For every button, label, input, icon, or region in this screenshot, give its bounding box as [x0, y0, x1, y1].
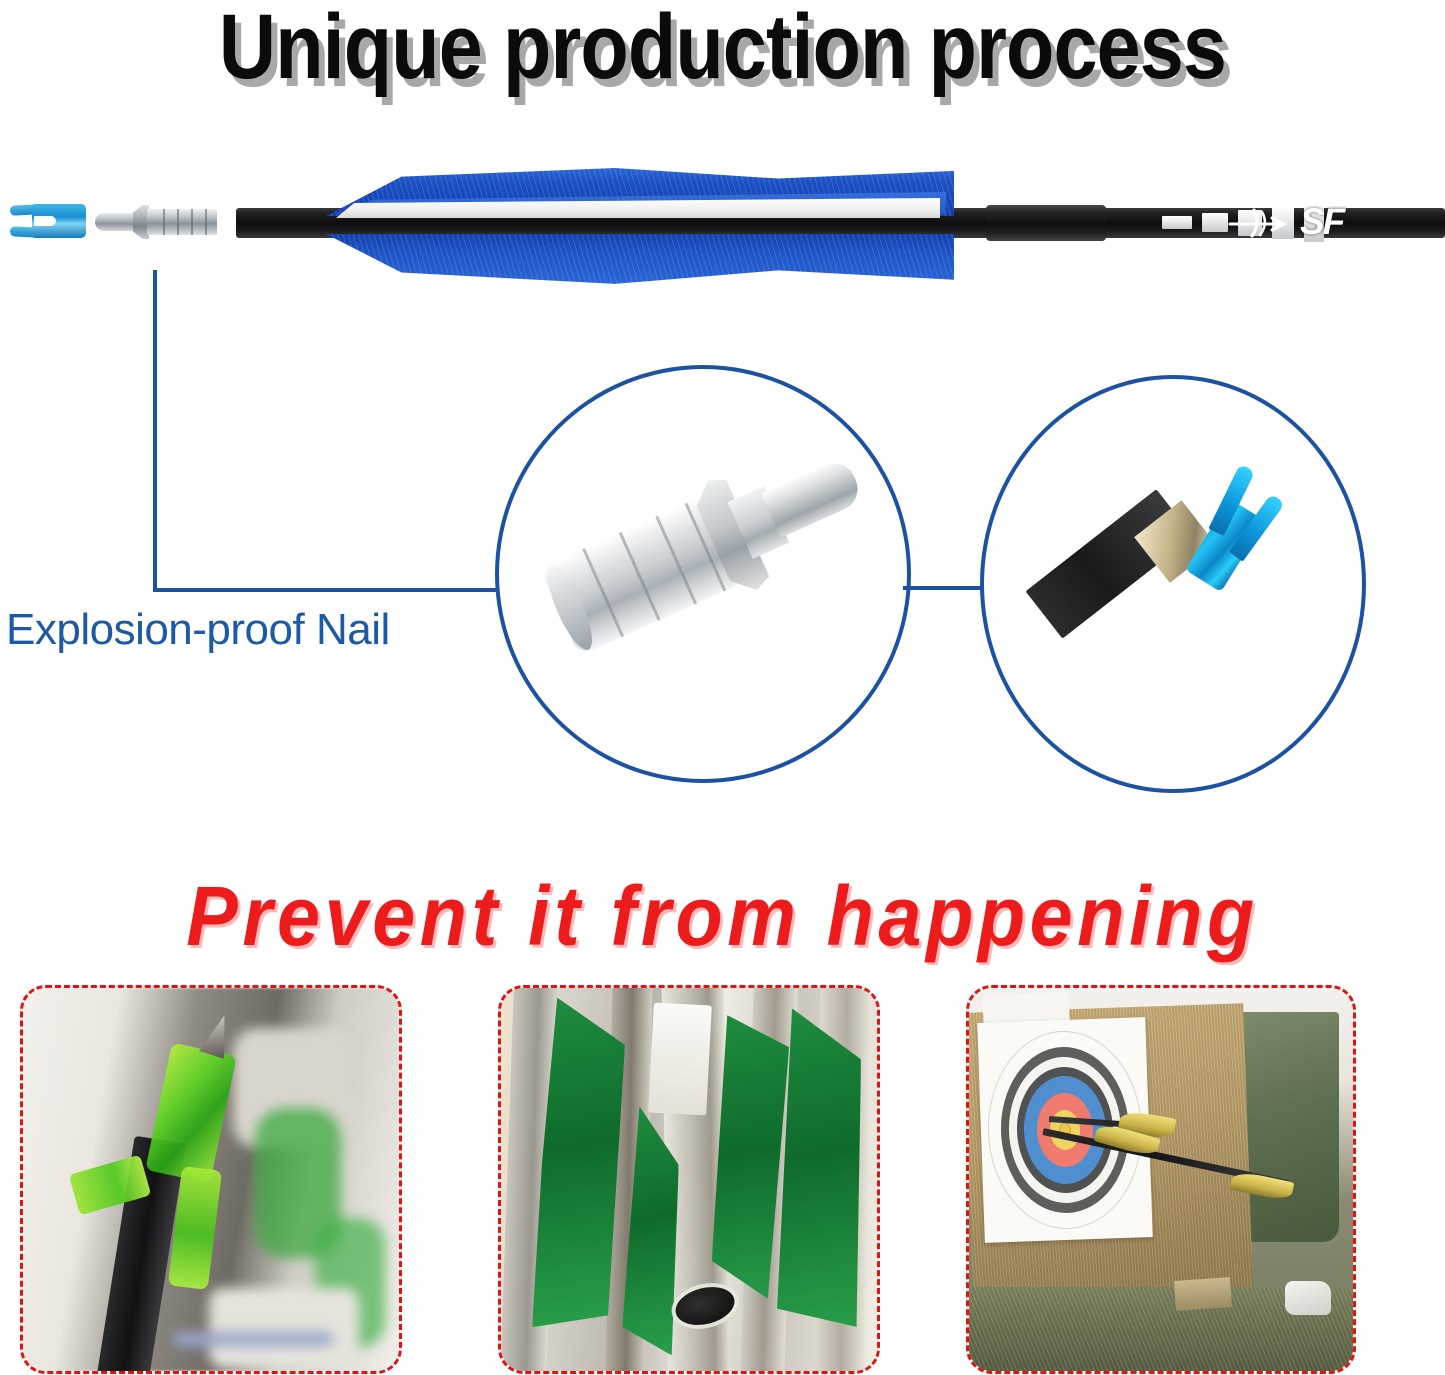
photo-panel-robin-hood [966, 985, 1356, 1374]
magnified-nock-image [1024, 419, 1344, 749]
prevent-heading: Prevent it from happening [58, 870, 1387, 962]
vane-texture [326, 234, 954, 286]
photo-panel-split-shafts [498, 985, 880, 1374]
sf-arrow-logo-icon [1228, 208, 1298, 238]
nail-ring [205, 209, 207, 235]
nail-ring [191, 209, 193, 235]
explosion-proof-nail-label: Explosion-proof Nail [6, 605, 390, 655]
circle-connector-line [903, 586, 983, 590]
detail-circle-explosion-proof-nail [495, 365, 911, 783]
page-title: Unique production process [101, 0, 1344, 99]
magnified-nail-image [529, 412, 882, 679]
arrow-nock-part [10, 204, 86, 238]
nock-string-slot [34, 216, 56, 226]
magnified-nail-pin [761, 456, 865, 537]
detail-circle-assembled-nock [980, 375, 1366, 793]
arrow-exploded-view: SF [0, 150, 1445, 330]
photo-image-robin-hood [969, 988, 1353, 1371]
nail-ring [163, 209, 165, 235]
photo-wood-block [1174, 1277, 1232, 1311]
fletching-bottom-vane [326, 234, 954, 286]
shaft-brand-text: SF [1300, 198, 1343, 246]
arrow-shaft-sleeve [986, 205, 1106, 241]
shaft-index-bar [1162, 216, 1192, 229]
nail-ring [177, 209, 179, 235]
photo-white-cloth [1285, 1281, 1331, 1315]
photo-image-split-shafts [501, 988, 877, 1371]
nail-pin [95, 213, 137, 231]
photo-white-vane [648, 1003, 712, 1116]
explosion-proof-nail-part [95, 202, 217, 242]
photo-image-broken-nock [23, 988, 399, 1371]
shaft-index-bar [1202, 213, 1228, 232]
photo-panel-broken-nock [20, 985, 402, 1374]
